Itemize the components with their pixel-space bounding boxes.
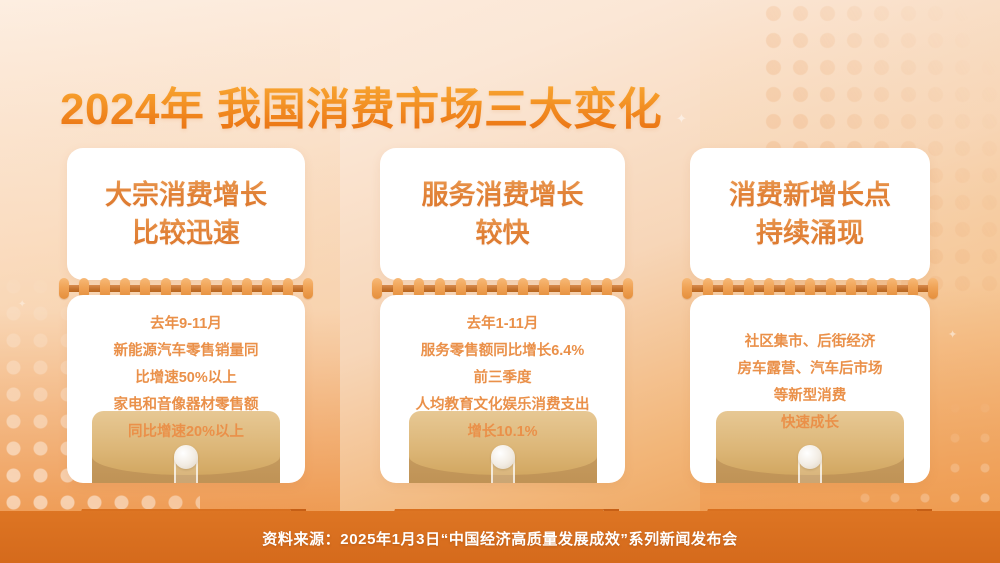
card-body-line: 房车露营、汽车后市场 [702, 358, 918, 380]
card-body-text: 去年1-11月 服务零售额同比增长6.4% 前三季度 人均教育文化娱乐消费支出 … [380, 295, 625, 443]
source-note: 资料来源：2025年1月3日“中国经济高质量发展成效”系列新闻发布会 [0, 528, 1000, 549]
card-service-consumption[interactable]: 服务消费增长 较快 去年1-11月 服务零售额同比增长6.4% 前三季度 人均教… [380, 148, 625, 483]
card-body-line: 快速成长 [702, 412, 918, 434]
card-body-line: 去年9-11月 [79, 313, 293, 335]
card-body: 社区集市、后街经济 房车露营、汽车后市场 等新型消费 快速成长 [690, 295, 930, 483]
card-header: 消费新增长点 持续涌现 [690, 148, 930, 280]
infographic-canvas: ✦ ✦ ✦ ✦ 2024年 我国消费市场三大变化 大宗消费增长 比较迅速 去年9… [0, 0, 1000, 563]
card-body-line: 增长10.1% [392, 421, 613, 443]
card-heading-line-2: 持续涌现 [756, 214, 864, 252]
card-body-line: 同比增速20%以上 [79, 421, 293, 443]
card-heading-line-1: 大宗消费增长 [105, 176, 267, 214]
card-heading-line-2: 较快 [476, 214, 530, 252]
card-major-consumption[interactable]: 大宗消费增长 比较迅速 去年9-11月 新能源汽车零售销量同 比增速50%以上 … [67, 148, 305, 483]
card-body: 去年1-11月 服务零售额同比增长6.4% 前三季度 人均教育文化娱乐消费支出 … [380, 295, 625, 483]
card-new-growth-points[interactable]: 消费新增长点 持续涌现 社区集市、后街经济 房车露营、汽车后市场 等新型消费 快… [690, 148, 930, 483]
card-header: 服务消费增长 较快 [380, 148, 625, 280]
page-title: 2024年 我国消费市场三大变化 [60, 73, 662, 137]
sparkle-icon: ✦ [18, 300, 26, 310]
sparkle-icon: ✦ [948, 330, 957, 341]
card-body-line: 前三季度 [392, 367, 613, 389]
card-body-line: 新能源汽车零售销量同 [79, 340, 293, 362]
sparkle-icon: ✦ [676, 112, 687, 125]
card-heading-line-2: 比较迅速 [132, 214, 240, 252]
card-header: 大宗消费增长 比较迅速 [67, 148, 305, 280]
card-body-line: 服务零售额同比增长6.4% [392, 340, 613, 362]
card-body: 去年9-11月 新能源汽车零售销量同 比增速50%以上 家电和音像器材零售额 同… [67, 295, 305, 483]
card-body-line: 去年1-11月 [392, 313, 613, 335]
card-body-line: 家电和音像器材零售额 [79, 394, 293, 416]
card-body-line: 社区集市、后街经济 [702, 331, 918, 353]
card-body-text: 去年9-11月 新能源汽车零售销量同 比增速50%以上 家电和音像器材零售额 同… [67, 295, 305, 443]
card-heading-line-1: 服务消费增长 [422, 176, 584, 214]
card-body-line: 人均教育文化娱乐消费支出 [392, 394, 613, 416]
card-body-line: 比增速50%以上 [79, 367, 293, 389]
card-body-text: 社区集市、后街经济 房车露营、汽车后市场 等新型消费 快速成长 [690, 295, 930, 434]
card-body-line: 等新型消费 [702, 385, 918, 407]
card-heading-line-1: 消费新增长点 [729, 176, 891, 214]
